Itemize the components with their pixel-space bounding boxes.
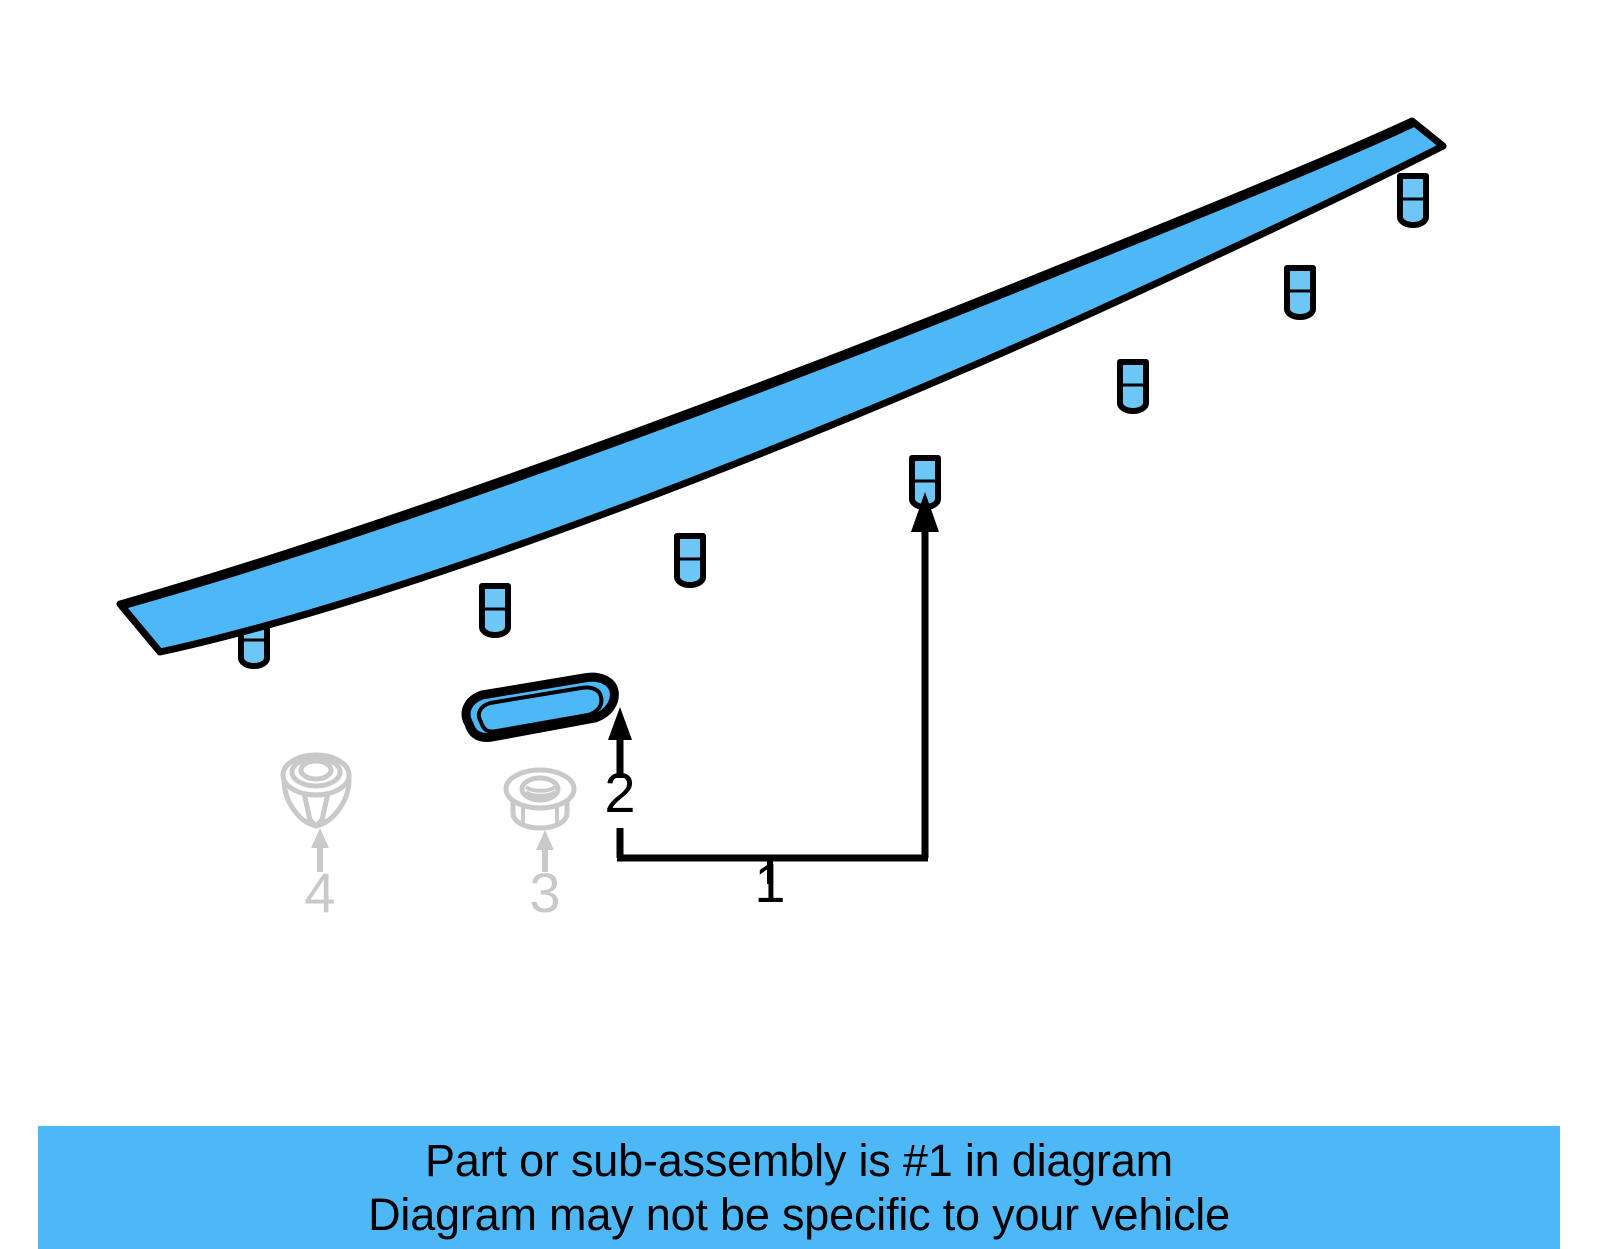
callout-label-4: 4 [304, 861, 335, 924]
grommet-nut[interactable] [506, 770, 574, 872]
banner-line-1: Part or sub-assembly is #1 in diagram [425, 1134, 1173, 1188]
mounting-stud [677, 536, 703, 585]
info-banner: Part or sub-assembly is #1 in diagram Di… [38, 1126, 1560, 1249]
parts-diagram: 2 1 3 4 Part or sub-assembly is #1 in di… [0, 0, 1600, 1249]
trim-band [120, 121, 1443, 652]
mounting-stud [1400, 176, 1426, 225]
main-trim-molding[interactable] [120, 121, 1443, 666]
mounting-stud [1120, 362, 1146, 411]
callout-1-bracket-group [617, 492, 939, 884]
callout-3-arrowhead [536, 830, 554, 850]
mounting-stud [1287, 268, 1313, 317]
trim-crease [124, 125, 1414, 607]
cap-plug[interactable] [466, 677, 614, 737]
callout-label-1: 1 [754, 851, 785, 914]
push-pin-clip[interactable] [283, 755, 349, 872]
callout-4-arrowhead [311, 828, 329, 848]
banner-line-2: Diagram may not be specific to your vehi… [368, 1188, 1230, 1242]
mounting-stud [482, 586, 508, 635]
callout-label-3: 3 [529, 861, 560, 924]
diagram-canvas: 2 1 3 4 [0, 0, 1600, 1249]
callout-label-2: 2 [604, 761, 635, 824]
